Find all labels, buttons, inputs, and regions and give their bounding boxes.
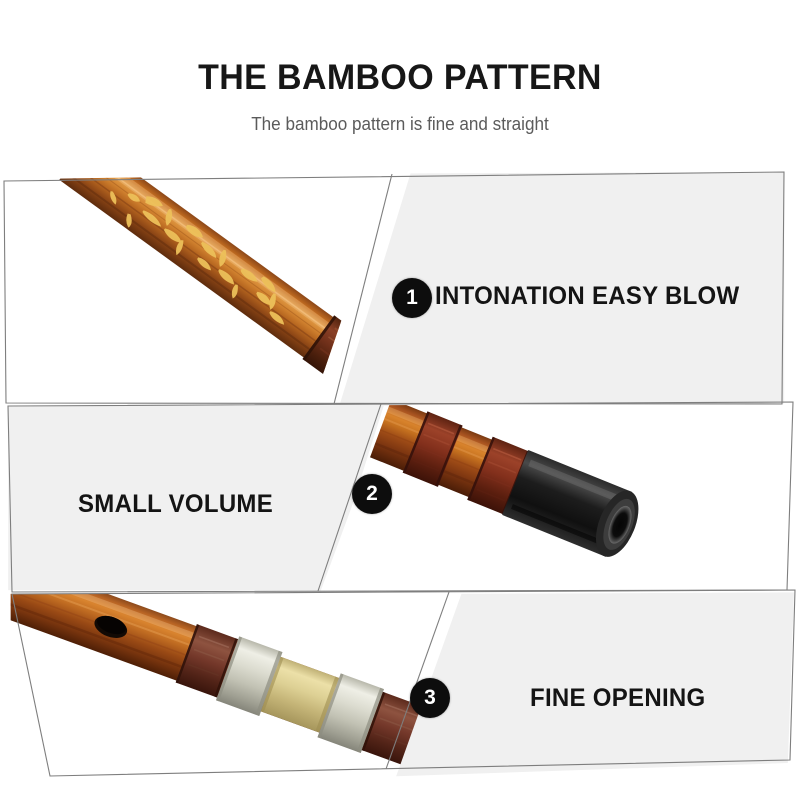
feature-3-label: FINE OPENING	[530, 684, 705, 713]
feature-1-label: INTONATION EASY BLOW	[435, 282, 739, 311]
feature-2-label: SMALL VOLUME	[78, 490, 273, 519]
step-badge-3[interactable]: 3	[410, 678, 450, 718]
feature-panels: 1 INTONATION EASY BLOW	[0, 0, 800, 800]
step-badge-2[interactable]: 2	[352, 474, 392, 514]
step-badge-1[interactable]: 1	[392, 278, 432, 318]
